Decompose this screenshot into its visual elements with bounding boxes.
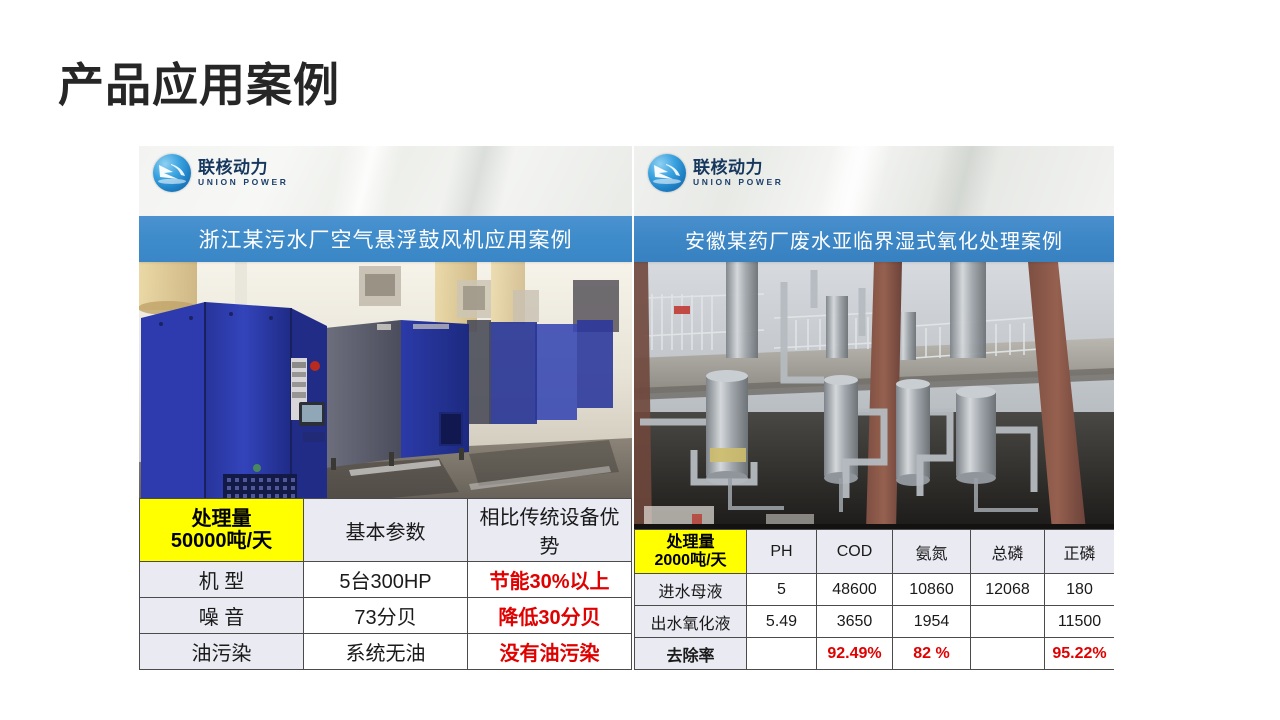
throughput-label: 处理量 — [192, 508, 252, 530]
column-header-advantage: 相比传统设备优势 — [468, 499, 632, 562]
case-panel-left: 联核动力 UNION POWER 浙江某污水厂空气悬浮鼓风机应用案例 — [139, 146, 632, 670]
cell-ortho-phosphate: 95.22% — [1045, 638, 1115, 670]
cell-ph — [747, 638, 817, 670]
cell-ph: 5.49 — [747, 606, 817, 638]
row-advantage-value: 没有油污染 — [468, 634, 632, 670]
case-panel-right: 联核动力 UNION POWER 安徽某药厂废水亚临界湿式氧化处理案例 — [634, 146, 1114, 670]
row-basic-value: 5台300HP — [304, 562, 468, 598]
cell-ammonia-nitrogen: 1954 — [893, 606, 971, 638]
photo-card-left: 联核动力 UNION POWER 浙江某污水厂空气悬浮鼓风机应用案例 — [139, 146, 632, 498]
cell-total-phosphorus: 12068 — [971, 574, 1045, 606]
row-label: 油污染 — [140, 634, 304, 670]
column-header-total-phosphorus: 总磷 — [971, 530, 1045, 574]
brand-name-en: UNION POWER — [198, 178, 288, 187]
row-basic-value: 系统无油 — [304, 634, 468, 670]
cell-total-phosphorus — [971, 638, 1045, 670]
row-label: 出水氧化液 — [635, 606, 747, 638]
brand-name-cn: 联核动力 — [693, 159, 783, 176]
table-row: 机 型 5台300HP 节能30%以上 — [140, 562, 632, 598]
cell-ortho-phosphate: 180 — [1045, 574, 1115, 606]
throughput-header-cell: 处理量 2000吨/天 — [635, 530, 747, 574]
swoosh-glyph — [157, 162, 187, 184]
cell-total-phosphorus — [971, 606, 1045, 638]
brand-name-en: UNION POWER — [693, 178, 783, 187]
throughput-label: 处理量 — [666, 534, 714, 551]
right-case-table: 处理量 2000吨/天 PH COD 氨氮 总磷 正磷 进水母液 5 48600… — [634, 529, 1114, 670]
row-basic-value: 73分贝 — [304, 598, 468, 634]
case-photo-left — [139, 262, 632, 498]
brand-logo-right: 联核动力 UNION POWER — [648, 154, 783, 192]
brand-logo-left: 联核动力 UNION POWER — [153, 154, 288, 192]
column-header-ortho-phosphate: 正磷 — [1045, 530, 1115, 574]
table-header-row: 处理量 50000吨/天 基本参数 相比传统设备优势 — [140, 499, 632, 562]
throughput-value: 2000吨/天 — [654, 552, 726, 569]
brand-logo-text-left: 联核动力 UNION POWER — [198, 159, 288, 187]
left-case-table: 处理量 50000吨/天 基本参数 相比传统设备优势 机 型 5台300HP 节… — [139, 498, 632, 670]
row-label: 去除率 — [635, 638, 747, 670]
row-advantage-value: 降低30分贝 — [468, 598, 632, 634]
cell-ortho-phosphate: 11500 — [1045, 606, 1115, 638]
page-title: 产品应用案例 — [58, 58, 340, 113]
brand-name-cn: 联核动力 — [198, 159, 288, 176]
cell-ammonia-nitrogen: 82 % — [893, 638, 971, 670]
throughput-header-cell: 处理量 50000吨/天 — [140, 499, 304, 562]
union-power-swoosh-icon — [153, 154, 191, 192]
row-label: 机 型 — [140, 562, 304, 598]
case-caption-right: 安徽某药厂废水亚临界湿式氧化处理案例 — [634, 216, 1114, 262]
table-row: 噪 音 73分贝 降低30分贝 — [140, 598, 632, 634]
logo-strip-left: 联核动力 UNION POWER — [139, 146, 632, 216]
plant-structure-illustration — [634, 262, 1114, 529]
table-row: 出水氧化液 5.49 3650 1954 11500 — [635, 606, 1115, 638]
photo-card-right: 联核动力 UNION POWER 安徽某药厂废水亚临界湿式氧化处理案例 — [634, 146, 1114, 529]
table-row: 进水母液 5 48600 10860 12068 180 — [635, 574, 1115, 606]
cell-cod: 48600 — [817, 574, 893, 606]
column-header-cod: COD — [817, 530, 893, 574]
row-advantage-value: 节能30%以上 — [468, 562, 632, 598]
column-header-ammonia-nitrogen: 氨氮 — [893, 530, 971, 574]
column-header-basic: 基本参数 — [304, 499, 468, 562]
union-power-swoosh-icon — [648, 154, 686, 192]
cell-ph: 5 — [747, 574, 817, 606]
cell-cod: 3650 — [817, 606, 893, 638]
cell-cod: 92.49% — [817, 638, 893, 670]
column-header-ph: PH — [747, 530, 817, 574]
throughput-value: 50000吨/天 — [171, 530, 272, 552]
logo-strip-right: 联核动力 UNION POWER — [634, 146, 1114, 216]
table-row: 去除率 92.49% 82 % 95.22% — [635, 638, 1115, 670]
swoosh-glyph — [652, 162, 682, 184]
case-panels: 联核动力 UNION POWER 浙江某污水厂空气悬浮鼓风机应用案例 — [139, 146, 1114, 670]
cell-ammonia-nitrogen: 10860 — [893, 574, 971, 606]
row-label: 噪 音 — [140, 598, 304, 634]
table-header-row: 处理量 2000吨/天 PH COD 氨氮 总磷 正磷 — [635, 530, 1115, 574]
case-photo-right — [634, 262, 1114, 529]
case-caption-left: 浙江某污水厂空气悬浮鼓风机应用案例 — [139, 216, 632, 262]
row-label: 进水母液 — [635, 574, 747, 606]
table-row: 油污染 系统无油 没有油污染 — [140, 634, 632, 670]
blower-room-illustration — [139, 262, 632, 498]
brand-logo-text-right: 联核动力 UNION POWER — [693, 159, 783, 187]
